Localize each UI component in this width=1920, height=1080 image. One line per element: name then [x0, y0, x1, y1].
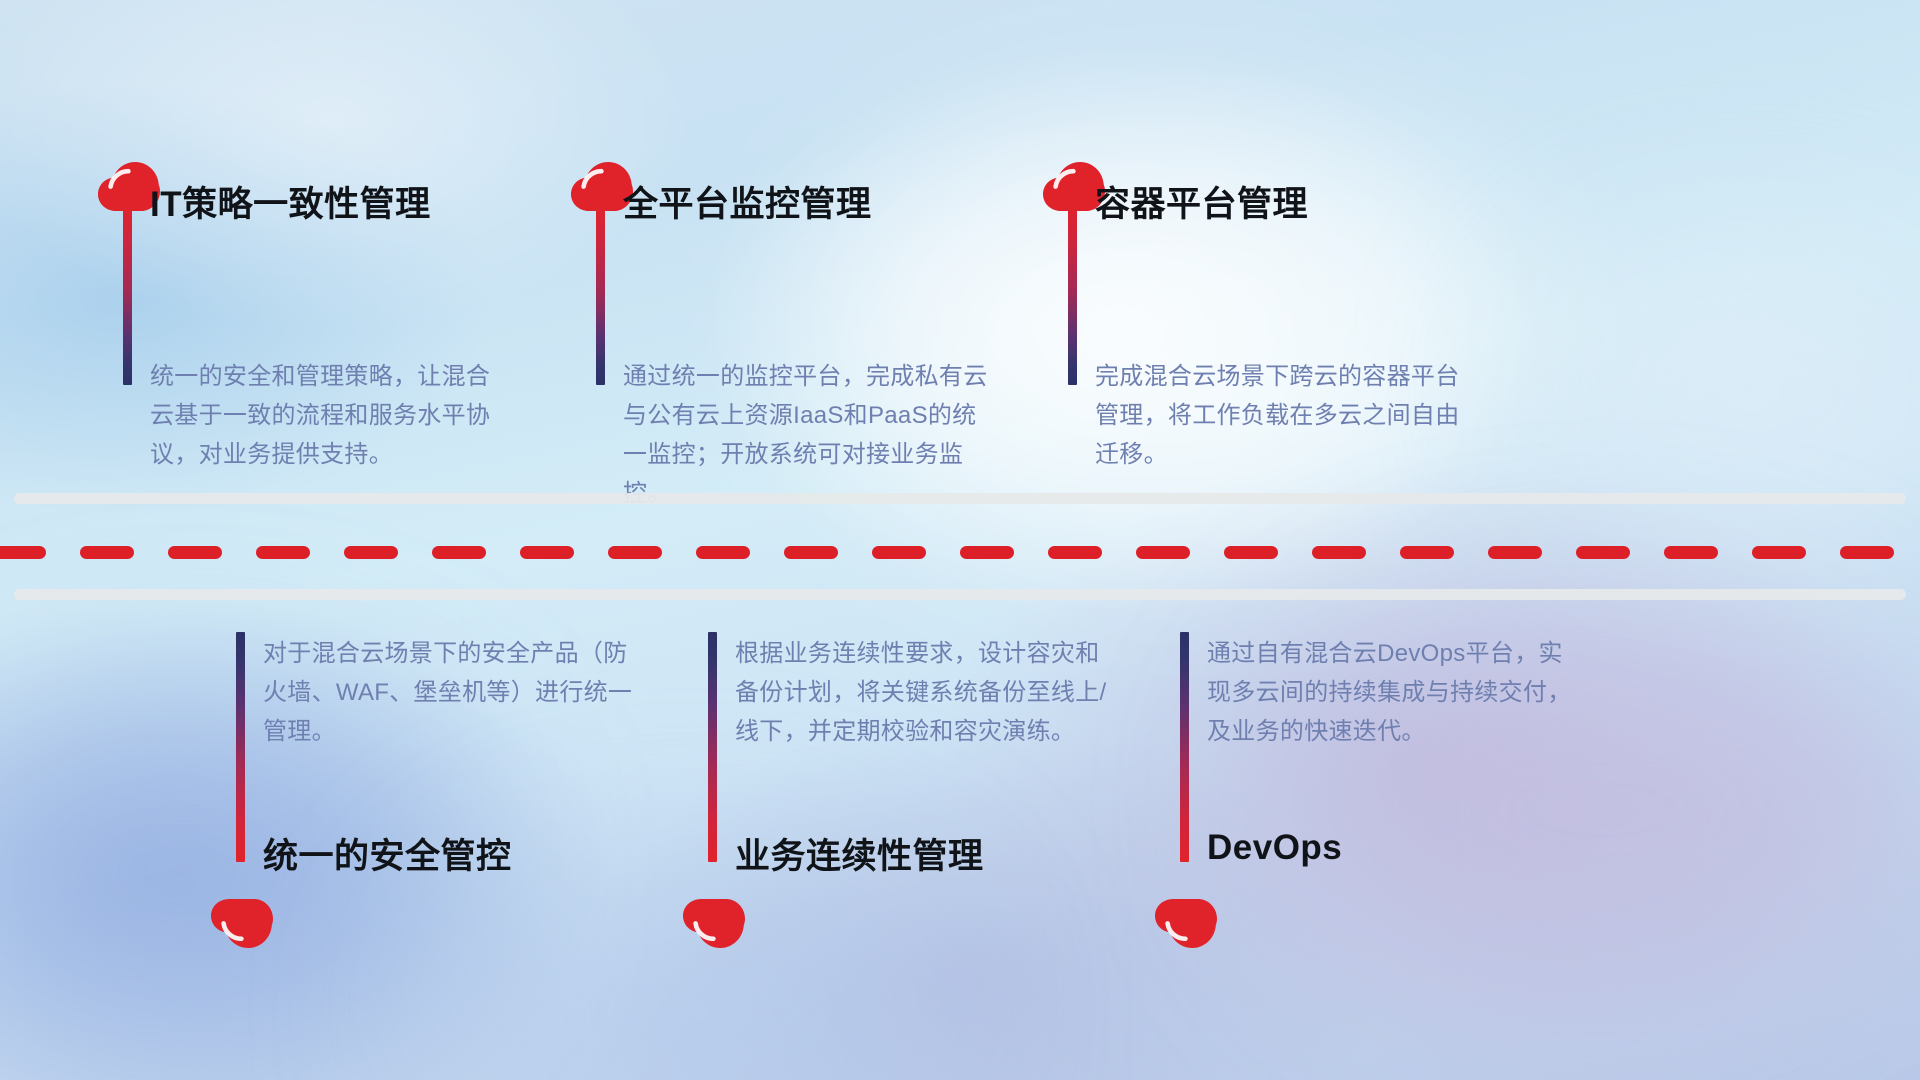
- dash-segment: [1312, 546, 1366, 559]
- dash-segment: [1840, 546, 1894, 559]
- dash-segment: [256, 546, 310, 559]
- background-glow-4: [430, 860, 950, 1080]
- dash-segment: [1224, 546, 1278, 559]
- background-glow-5: [1540, 260, 1920, 520]
- dash-segment: [344, 546, 398, 559]
- cloud-icon: [211, 898, 273, 948]
- bottom-column-2-body: 根据业务连续性要求，设计容灾和备份计划，将关键系统备份至线上/线下，并定期校验和…: [735, 634, 1107, 751]
- divider-bar-top: [14, 493, 1906, 504]
- dash-segment: [168, 546, 222, 559]
- cloud-icon: [1155, 898, 1217, 948]
- infographic-canvas: IT策略一致性管理 统一的安全和管理策略，让混合云基于一致的流程和服务水平协议，…: [0, 0, 1920, 1080]
- top-column-2-body: 通过统一的监控平台，完成私有云与公有云上资源IaaS和PaaS的统一监控；开放系…: [623, 357, 995, 513]
- dash-segment: [1664, 546, 1718, 559]
- dash-segment: [432, 546, 486, 559]
- red-dashed-separator: [0, 546, 1920, 559]
- dash-segment: [0, 546, 46, 559]
- stem-connector: [236, 632, 245, 862]
- dash-segment: [1488, 546, 1542, 559]
- dash-segment: [960, 546, 1014, 559]
- bottom-column-3-title: DevOps: [1207, 828, 1342, 868]
- dash-segment: [1400, 546, 1454, 559]
- dash-segment: [520, 546, 574, 559]
- bottom-column-1-title: 统一的安全管控: [263, 828, 512, 879]
- top-column-3-title: 容器平台管理: [1095, 176, 1308, 227]
- dash-segment: [784, 546, 838, 559]
- stem-connector: [708, 632, 717, 862]
- bottom-column-1-body: 对于混合云场景下的安全产品（防火墙、WAF、堡垒机等）进行统一管理。: [263, 634, 635, 751]
- stem-connector: [596, 205, 605, 385]
- stem-connector: [1180, 632, 1189, 862]
- dash-segment: [1048, 546, 1102, 559]
- top-column-3-body: 完成混合云场景下跨云的容器平台管理，将工作负载在多云之间自由迁移。: [1095, 357, 1467, 474]
- dash-segment: [608, 546, 662, 559]
- bottom-column-2-title: 业务连续性管理: [735, 828, 984, 879]
- dash-segment: [872, 546, 926, 559]
- dash-segment: [1136, 546, 1190, 559]
- dash-segment: [80, 546, 134, 559]
- top-column-1-title: IT策略一致性管理: [150, 176, 431, 227]
- divider-bar-bottom: [14, 589, 1906, 600]
- bottom-column-3-body: 通过自有混合云DevOps平台，实现多云间的持续集成与持续交付，及业务的快速迭代…: [1207, 634, 1579, 751]
- stem-connector: [1068, 205, 1077, 385]
- top-column-1-body: 统一的安全和管理策略，让混合云基于一致的流程和服务水平协议，对业务提供支持。: [150, 357, 512, 474]
- stem-connector: [123, 205, 132, 385]
- dash-segment: [1752, 546, 1806, 559]
- cloud-icon: [683, 898, 745, 948]
- dash-segment: [1576, 546, 1630, 559]
- dash-segment: [696, 546, 750, 559]
- top-column-2-title: 全平台监控管理: [623, 176, 872, 227]
